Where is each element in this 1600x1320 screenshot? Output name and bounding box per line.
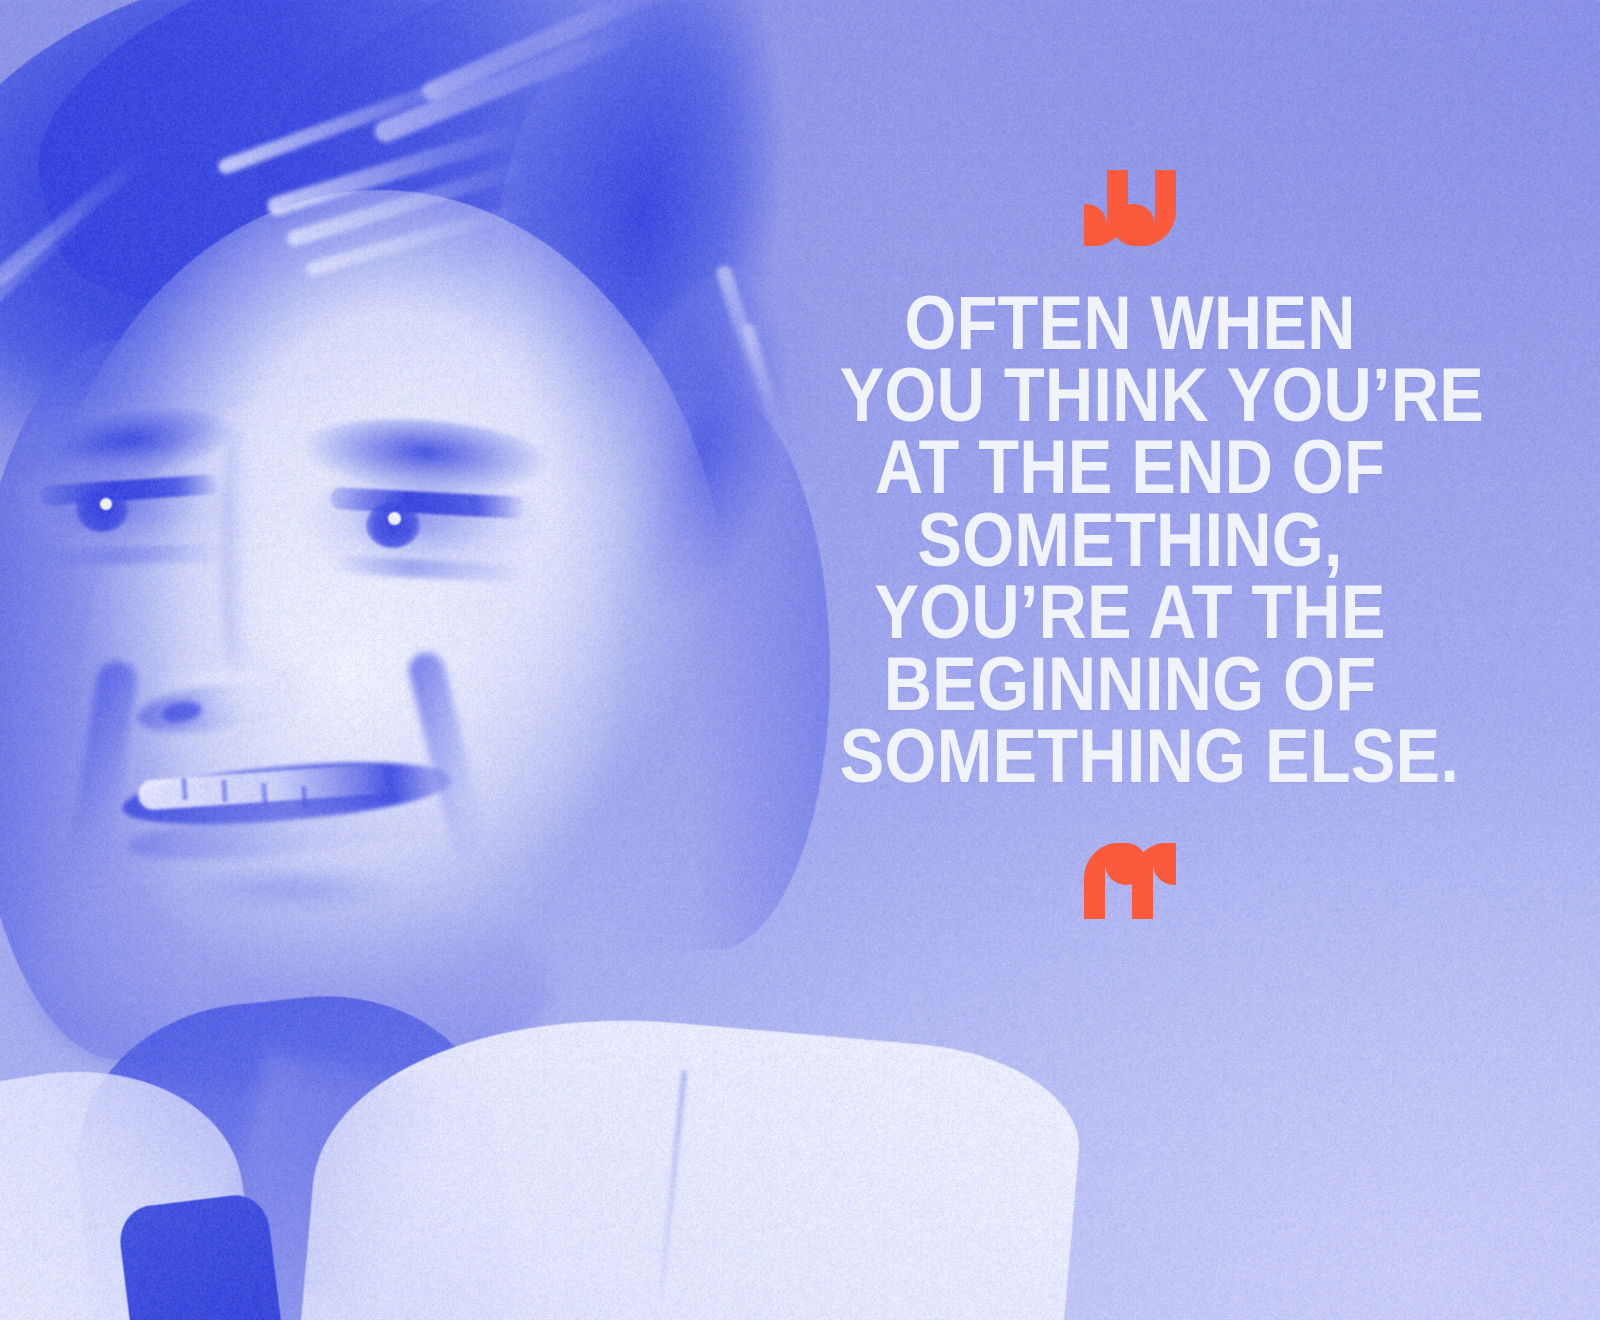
close-quote-icon xyxy=(800,843,1460,919)
quote-line: SOMETHING ELSE. xyxy=(840,721,1421,793)
portrait-eye-glint-right xyxy=(388,512,401,525)
quote-card: OFTEN WHEN YOU THINK YOU’RE AT THE END O… xyxy=(0,0,1600,1320)
quote-line: SOMETHING, xyxy=(840,505,1421,577)
portrait-iris-left xyxy=(76,488,128,532)
quote-text: OFTEN WHEN YOU THINK YOU’RE AT THE END O… xyxy=(840,288,1421,793)
portrait-face-shadow-right xyxy=(600,390,830,950)
quote-line: BEGINNING OF xyxy=(840,649,1421,721)
portrait-eye-glint-left xyxy=(100,498,112,510)
quote-line: OFTEN WHEN xyxy=(840,288,1421,360)
portrait-nose-bridge xyxy=(222,430,258,680)
portrait-iris-right xyxy=(366,502,420,548)
quote-line: AT THE END OF xyxy=(840,432,1421,504)
quote-line: YOU THINK YOU’RE xyxy=(840,360,1421,432)
quote-block: OFTEN WHEN YOU THINK YOU’RE AT THE END O… xyxy=(800,170,1460,919)
open-quote-icon xyxy=(800,170,1460,246)
quote-line: YOU’RE AT THE xyxy=(840,577,1421,649)
portrait-tie-knot xyxy=(116,1191,286,1320)
